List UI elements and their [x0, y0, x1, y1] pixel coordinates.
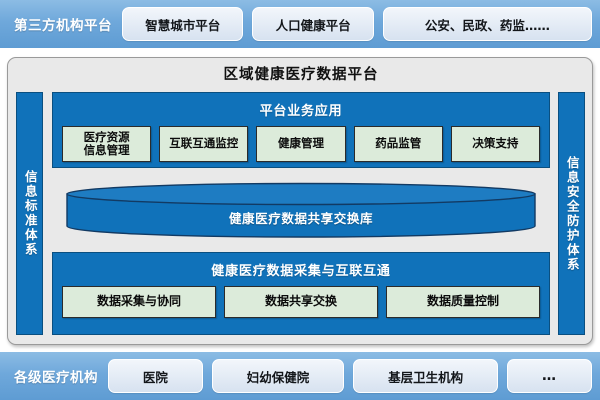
health-data-collection-panel: 健康医疗数据采集与互联互通 数据采集与协同 数据共享交换 数据质量控制 — [52, 252, 550, 335]
medical-institutions-items: 医院 妇幼保健院 基层卫生机构 … — [108, 359, 592, 393]
chip-medical-resource-info-management[interactable]: 医疗资源 信息管理 — [62, 126, 151, 162]
page-title: 区域健康医疗数据平台 — [8, 63, 594, 84]
medical-institutions-band: 各级医疗机构 医院 妇幼保健院 基层卫生机构 … — [0, 352, 600, 400]
apps-panel-title: 平台业务应用 — [53, 93, 549, 119]
pill-maternal-child-health-hospital[interactable]: 妇幼保健院 — [212, 359, 344, 393]
architecture-diagram: 第三方机构平台 智慧城市平台 人口健康平台 公安、民政、药监…… 区域健康医疗数… — [0, 0, 600, 400]
pill-government-agencies[interactable]: 公安、民政、药监…… — [383, 7, 592, 41]
platform-business-applications-panel: 平台业务应用 医疗资源 信息管理 互联互通监控 健康管理 药品监管 决策支持 — [52, 92, 550, 168]
sidebar-information-security-system: 信息安全防护体系 — [558, 92, 585, 335]
collect-panel-title: 健康医疗数据采集与互联互通 — [53, 253, 549, 279]
pill-primary-health-institution[interactable]: 基层卫生机构 — [353, 359, 498, 393]
chip-decision-support[interactable]: 决策支持 — [451, 126, 540, 162]
chip-data-sharing-exchange[interactable]: 数据共享交换 — [224, 286, 378, 318]
chip-health-management[interactable]: 健康管理 — [256, 126, 345, 162]
chip-interconnection-monitoring[interactable]: 互联互通监控 — [159, 126, 248, 162]
collect-chip-row: 数据采集与协同 数据共享交换 数据质量控制 — [53, 279, 549, 318]
pill-population-health-platform[interactable]: 人口健康平台 — [252, 7, 373, 41]
chip-drug-supervision[interactable]: 药品监管 — [354, 126, 443, 162]
database-cylinder-icon — [66, 182, 536, 238]
third-party-platform-items: 智慧城市平台 人口健康平台 公安、民政、药监…… — [122, 7, 592, 41]
chip-data-collection-collaboration[interactable]: 数据采集与协同 — [62, 286, 216, 318]
third-party-platform-label: 第三方机构平台 — [8, 14, 122, 34]
sidebar-information-standard-system: 信息标准体系 — [16, 92, 43, 335]
pill-hospital[interactable]: 医院 — [108, 359, 203, 393]
medical-institutions-label: 各级医疗机构 — [8, 366, 108, 386]
sidebar-right-label: 信息安全防护体系 — [565, 156, 578, 272]
chip-data-quality-control[interactable]: 数据质量控制 — [386, 286, 540, 318]
data-sharing-exchange-repository: 健康医疗数据共享交换库 — [66, 182, 536, 238]
regional-health-data-platform-container: 区域健康医疗数据平台 信息标准体系 信息安全防护体系 平台业务应用 医疗资源 信… — [7, 57, 593, 345]
apps-chip-row: 医疗资源 信息管理 互联互通监控 健康管理 药品监管 决策支持 — [53, 119, 549, 162]
pill-more-institutions[interactable]: … — [507, 359, 592, 393]
sidebar-left-label: 信息标准体系 — [23, 170, 36, 257]
third-party-platform-band: 第三方机构平台 智慧城市平台 人口健康平台 公安、民政、药监…… — [0, 0, 600, 48]
pill-smart-city-platform[interactable]: 智慧城市平台 — [122, 7, 243, 41]
